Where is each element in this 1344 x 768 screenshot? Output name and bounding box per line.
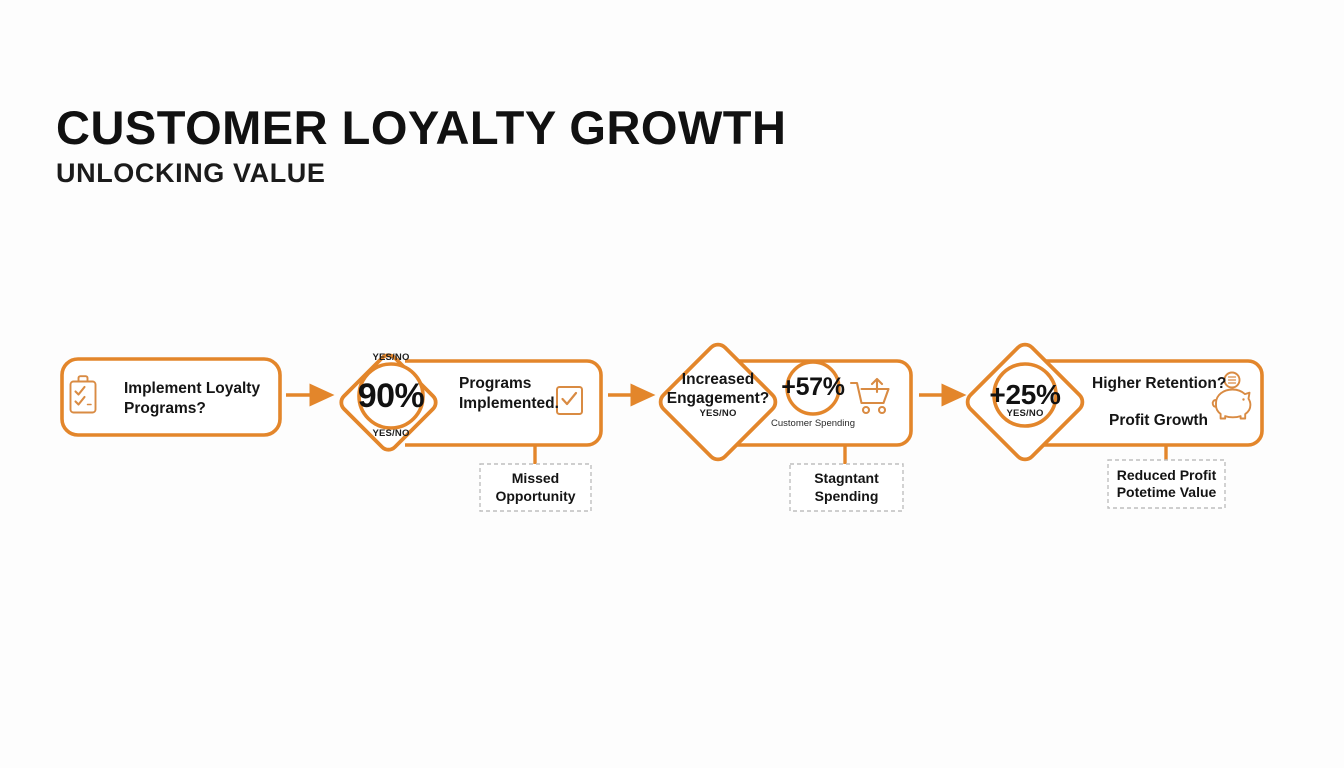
step-3-metric: +57% [773, 375, 853, 400]
step-4-outcome-line2: Potetime Value [1108, 484, 1225, 501]
step-4-outcome-line1: Reduced Profit [1108, 467, 1225, 484]
step-3-outcome-text: Stagntant Spending [790, 464, 903, 511]
step-1-label: Implement Loyalty Programs? [124, 379, 274, 419]
step-4-metric: +25% [975, 381, 1075, 409]
step-4-outcome-text: Reduced Profit Potetime Value [1108, 460, 1225, 508]
step-2-panel-label-line2: Implemented. [459, 394, 569, 414]
step-2-outcome-line1: Missed [480, 470, 591, 487]
step-1-label-line2: Programs? [124, 399, 274, 419]
step-4-panel-label-1: Higher Retention? [1092, 374, 1232, 394]
flowchart: Implement Loyalty Programs? YES/NO 90% Y… [0, 0, 1344, 768]
step-2-panel-label-line1: Programs [459, 374, 569, 394]
step-4-yesno: YES/NO [975, 408, 1075, 419]
step-3-outcome-line1: Stagntant [790, 470, 903, 487]
step-3-outcome-line2: Spending [790, 488, 903, 505]
step-4-panel-label-2: Profit Growth [1109, 411, 1249, 431]
step-2-metric: 90% [348, 379, 434, 413]
step-2-yesno-bottom: YES/NO [348, 428, 434, 439]
step-3-diamond-label-line2: Engagement? [652, 390, 784, 409]
step-3-diamond-label-line1: Increased [652, 371, 784, 390]
step-2-panel-label: Programs Implemented. [459, 374, 569, 414]
step-1-label-line1: Implement Loyalty [124, 379, 274, 399]
step-3-caption: Customer Spending [755, 418, 871, 429]
step-3-diamond-label: Increased Engagement? [652, 371, 784, 409]
step-2-yesno-top: YES/NO [348, 352, 434, 363]
step-2-outcome-line2: Opportunity [480, 488, 591, 505]
step-2-outcome-text: Missed Opportunity [480, 464, 591, 511]
